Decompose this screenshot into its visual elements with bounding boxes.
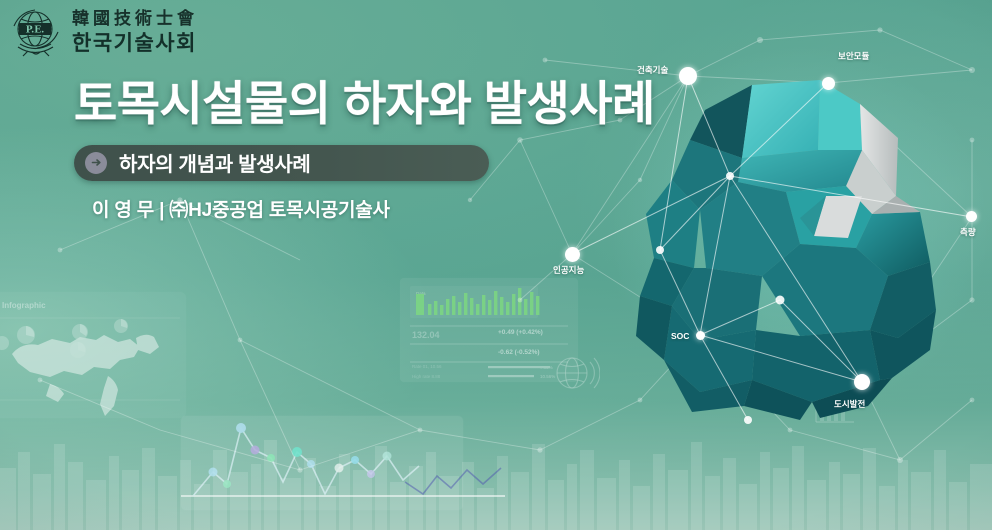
pe-globe-logo-icon: P.E.	[8, 6, 64, 58]
svg-text:-0.62 (-0.52%): -0.62 (-0.52%)	[498, 349, 540, 356]
network-label-urban-development: 도시발전	[834, 398, 865, 410]
world-map-infographic: Infographic	[0, 288, 190, 423]
network-node-dot	[565, 247, 580, 262]
network-label-ai: 인공지능	[553, 264, 584, 276]
page-title: 토목시설물의 하자와 발생사례	[74, 78, 694, 131]
globe-wireframe-icon	[548, 348, 600, 400]
subtitle-text: 하자의 개념과 발생사례	[119, 148, 311, 177]
org-name-hanja: 韓國技術士會	[72, 11, 198, 28]
network-node-dot	[696, 331, 705, 340]
subtitle-bar: 하자의 개념과 발생사례	[74, 145, 489, 181]
network-node-dot	[854, 374, 870, 390]
svg-text:Infographic: Infographic	[2, 301, 46, 310]
presenter-line: 이 영 무 | ㈜HJ중공업 토목시공기술사	[92, 195, 694, 222]
network-node-dot	[822, 77, 835, 90]
skyline-line-chart	[175, 398, 505, 530]
organization-logo: P.E. 韓國技術士會 한국기술사회	[8, 6, 198, 58]
svg-text:132.04: 132.04	[412, 330, 440, 340]
svg-text:+0.49 (+0.42%): +0.49 (+0.42%)	[498, 329, 543, 336]
pe-monogram: P.E.	[26, 26, 44, 36]
title-block: 토목시설물의 하자와 발생사례 하자의 개념과 발생사례 이 영 무 | ㈜HJ…	[74, 78, 694, 222]
org-name-hangul: 한국기술사회	[72, 33, 198, 54]
network-label-soc: SOC	[671, 331, 689, 341]
network-label-survey: 측량	[960, 226, 976, 238]
arrow-right-circle-icon	[85, 152, 107, 174]
svg-text:Rate 01, 10.56: Rate 01, 10.56	[412, 364, 442, 369]
svg-text:High rate 8.88: High rate 8.88	[412, 374, 441, 379]
presentation-slide: Infographic Data	[0, 0, 992, 530]
network-label-security-module: 보안모듈	[838, 50, 869, 62]
network-node-dot	[966, 211, 977, 222]
network-label-architecture: 건축기술	[637, 64, 668, 76]
